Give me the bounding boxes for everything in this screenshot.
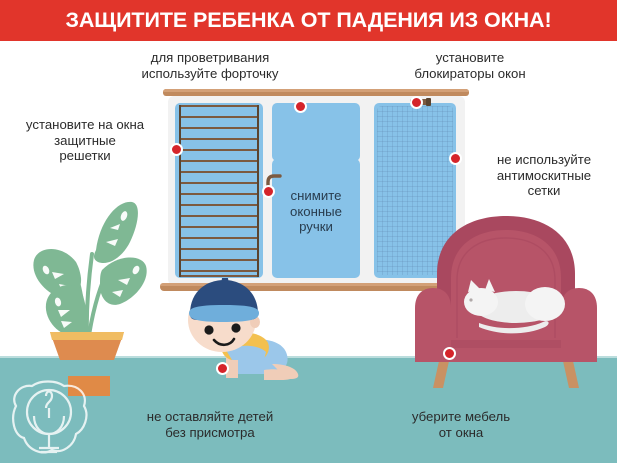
window-pane-fortochka <box>272 103 360 161</box>
label-nets: не используйте антимоскитные сетки <box>472 152 616 199</box>
label-handles: снимите оконные ручки <box>279 188 353 235</box>
marker-blockers[interactable] <box>410 96 423 109</box>
monstera-plant <box>26 192 148 360</box>
poster-root: ЗАЩИТИТЕ РЕБЕНКА ОТ ПАДЕНИЯ ИЗ ОКНА! <box>0 0 617 463</box>
label-fortochka: для проветривания используйте форточку <box>100 50 320 81</box>
marker-grilles[interactable] <box>170 143 183 156</box>
marker-furniture[interactable] <box>443 347 456 360</box>
protective-grille <box>179 105 259 277</box>
crawling-child <box>176 278 304 388</box>
window-blocker-cap <box>426 98 431 106</box>
marker-handles[interactable] <box>262 185 275 198</box>
page-title: ЗАЩИТИТЕ РЕБЕНКА ОТ ПАДЕНИЯ ИЗ ОКНА! <box>0 0 617 41</box>
emblem-logo <box>6 378 92 460</box>
window-cornice-highlight <box>163 89 469 92</box>
label-grilles: установите на окна защитные решетки <box>2 117 168 164</box>
armchair <box>413 212 599 390</box>
label-furniture: уберите мебель от окна <box>373 409 549 440</box>
marker-nets[interactable] <box>449 152 462 165</box>
marker-fortochka[interactable] <box>294 100 307 113</box>
label-blockers: установите блокираторы окон <box>372 50 568 81</box>
marker-child[interactable] <box>216 362 229 375</box>
label-child: не оставляйте детей без присмотра <box>110 409 310 440</box>
